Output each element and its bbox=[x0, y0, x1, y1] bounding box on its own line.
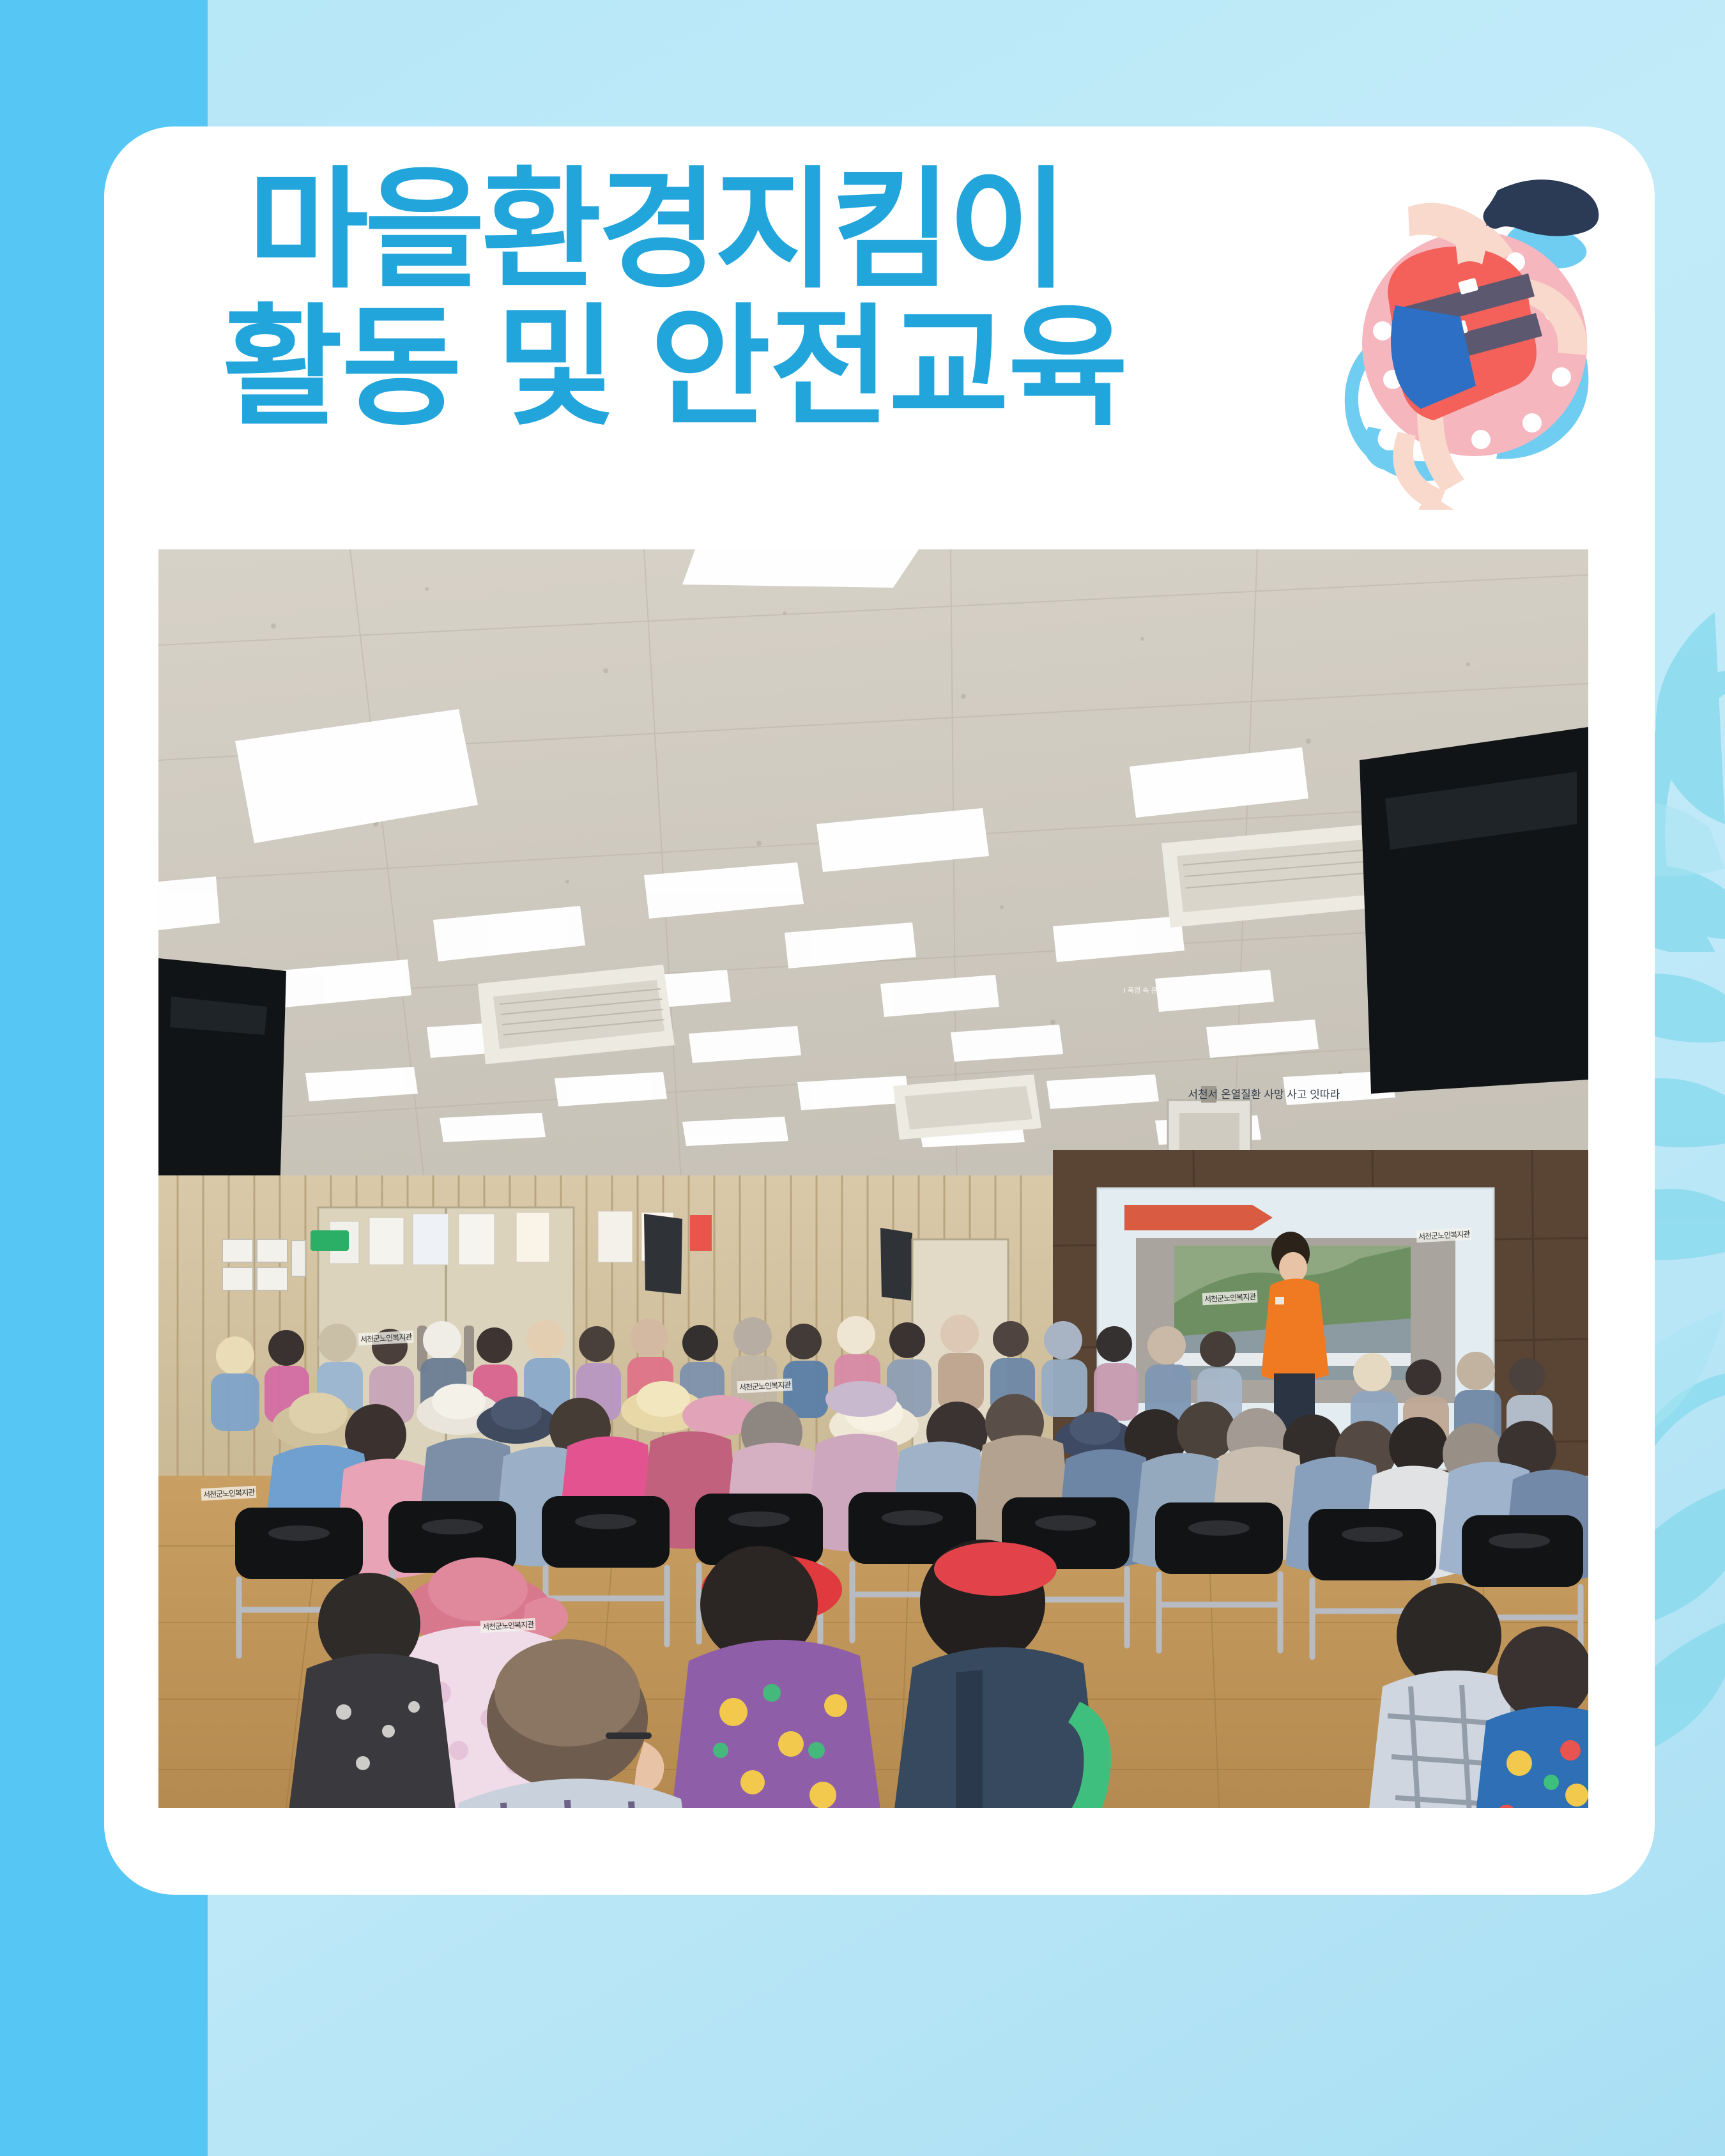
chair-label: 서천군노인복지관 bbox=[201, 1485, 257, 1500]
event-photo: Ⅰ 폭염 속 온열질환 영상 서천서 온열질환 사망 사고 잇따라 서천군노인복… bbox=[158, 549, 1588, 1808]
poster-root: 마을환경지킴이 활동 및 안전교육 bbox=[0, 0, 1725, 2156]
page-title-line-2: 활동 및 안전교육 bbox=[222, 302, 1127, 433]
page-title-line-1: 마을환경지킴이 bbox=[248, 165, 1064, 296]
slide-section-tag: Ⅰ 폭염 속 온열질환 영상 bbox=[1124, 985, 1192, 995]
chair-label: 서천군노인복지관 bbox=[480, 1617, 535, 1632]
content-card: 마을환경지킴이 활동 및 안전교육 bbox=[104, 126, 1655, 1895]
slide-headline: 서천서 온열질환 사망 사고 잇따라 bbox=[1188, 1085, 1340, 1101]
swimmer-on-float-icon bbox=[1324, 152, 1630, 510]
